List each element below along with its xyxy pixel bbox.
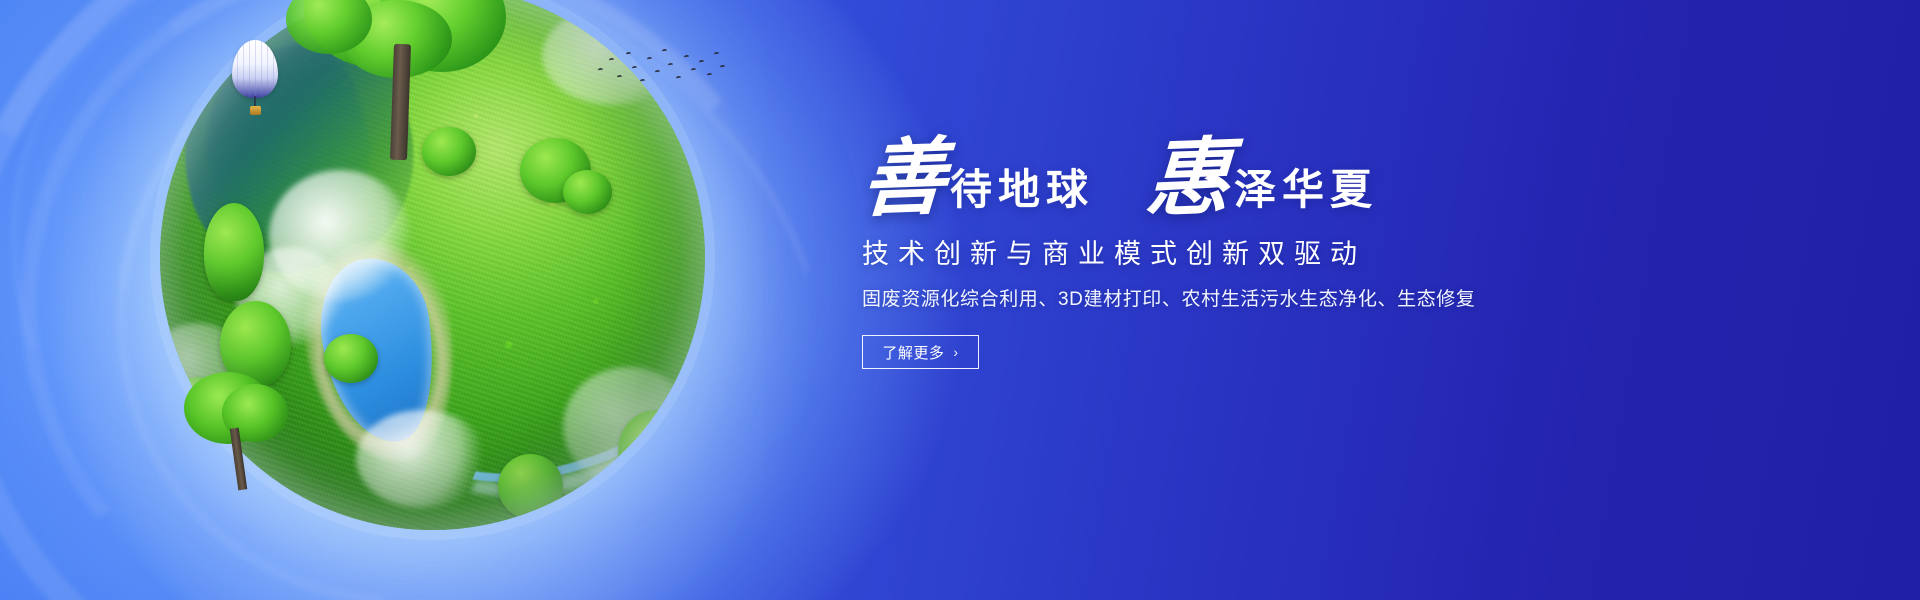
banner-content: 善 待地球 惠 泽华夏 技术创新与商业模式创新双驱动 固废资源化综合利用、3D建… — [862, 128, 1682, 369]
bird-flock-icon — [596, 46, 726, 90]
learn-more-button[interactable]: 了解更多 › — [862, 335, 979, 369]
hero-banner: 善 待地球 惠 泽华夏 技术创新与商业模式创新双驱动 固废资源化综合利用、3D建… — [0, 0, 1920, 600]
headline-group-1: 善 待地球 — [862, 141, 1094, 218]
headline-group-2: 惠 泽华夏 — [1146, 141, 1378, 218]
headline-big-char-2: 惠 — [1144, 139, 1232, 219]
banner-description: 固废资源化综合利用、3D建材打印、农村生活污水生态净化、生态修复 — [862, 288, 1682, 313]
tree-trunk — [390, 44, 411, 161]
banner-subtitle: 技术创新与商业模式创新双驱动 — [862, 238, 1682, 270]
balloon-envelope — [232, 40, 278, 98]
chevron-right-icon: › — [953, 345, 958, 359]
balloon-basket — [250, 106, 261, 115]
page-title: 善 待地球 惠 泽华夏 — [862, 128, 1682, 218]
headline-small-text-1: 待地球 — [950, 170, 1094, 218]
headline-big-char-1: 善 — [860, 139, 948, 219]
tree-icon — [286, 0, 516, 158]
learn-more-label: 了解更多 — [882, 342, 944, 363]
small-tree-icon — [176, 372, 296, 492]
headline-small-text-2: 泽华夏 — [1234, 170, 1378, 218]
hot-air-balloon-icon — [232, 40, 278, 118]
